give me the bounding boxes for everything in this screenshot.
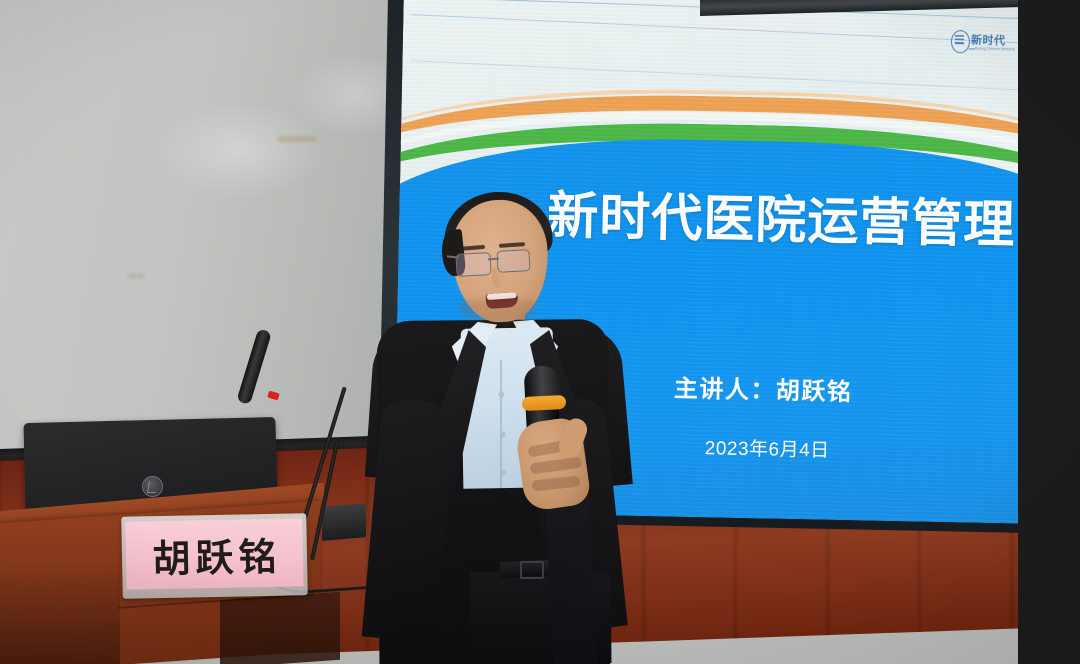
shirt-button	[499, 392, 504, 397]
hospital-logo-subtext: Beijing Chinese Medicine	[975, 46, 1015, 51]
wall-smudge-secondary	[128, 274, 144, 278]
nameplate-name: 胡跃铭	[147, 525, 282, 583]
speaker-nose	[492, 268, 504, 288]
hospital-logo-icon: 新时代 Beijing Chinese Medicine	[951, 29, 1014, 56]
eyeglasses-icon	[455, 252, 491, 277]
belt-buckle	[520, 561, 544, 579]
podium-shadow	[0, 560, 120, 664]
nameplate-holder: 胡跃铭	[121, 513, 308, 599]
slide-title: 新时代医院运营管理	[547, 174, 1016, 257]
shirt-button	[501, 470, 506, 475]
hospital-logo-bars	[955, 35, 964, 45]
dell-logo-icon	[142, 476, 164, 498]
podium-lower-panel	[220, 592, 340, 664]
slide-presenter-line: 主讲人：胡跃铭	[674, 369, 853, 408]
nameplate-card: 胡跃铭	[125, 518, 303, 589]
frame-right-gutter	[1018, 0, 1080, 664]
wall-smudge	[278, 136, 316, 142]
slide-date-line: 2023年6月4日	[705, 433, 830, 463]
screenshot-root: 北京中医药大学第三附属医院 Hospital Beijing Universit…	[0, 0, 1080, 664]
shirt-placket	[500, 360, 502, 488]
microphone-orange-band	[522, 395, 567, 411]
shirt-button	[500, 432, 505, 437]
speaker-jaw-shadow	[460, 300, 536, 322]
speaker-teeth	[487, 292, 517, 300]
